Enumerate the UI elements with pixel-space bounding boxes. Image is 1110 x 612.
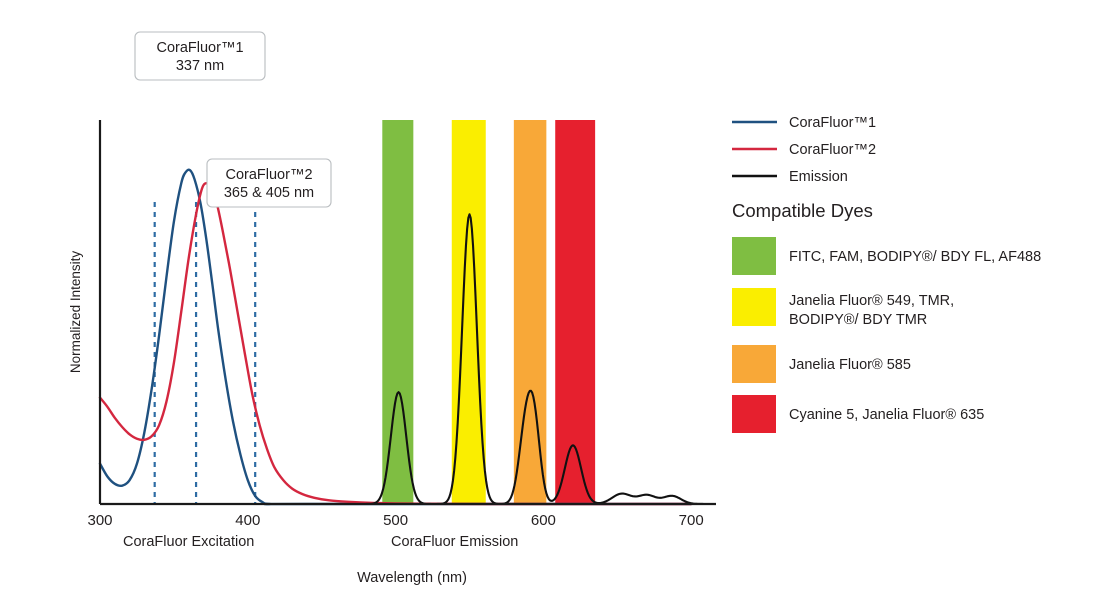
x-tick-label-400: 400 (235, 512, 260, 529)
y-axis-title: Normalized Intensity (68, 251, 83, 374)
dye-swatch-1 (732, 288, 776, 326)
spectra-figure: 300400500600700CoraFluor ExcitationCoraF… (0, 0, 1110, 612)
dye-label-3-line1: Cyanine 5, Janelia Fluor® 635 (789, 407, 984, 423)
legend-label-0: CoraFluor™1 (789, 115, 876, 131)
orange-band (514, 120, 547, 504)
green-band (382, 120, 413, 504)
corafluor2-callout: CoraFluor™2365 & 405 nm (207, 159, 331, 207)
corafluor2-callout-line1: CoraFluor™2 (225, 167, 312, 183)
dye-label-2-line1: Janelia Fluor® 585 (789, 357, 911, 373)
dye-swatch-2 (732, 345, 776, 383)
x-axis-title: Wavelength (nm) (357, 570, 467, 586)
x-tick-label-500: 500 (383, 512, 408, 529)
corafluor1-callout-line2: 337 nm (176, 58, 224, 74)
dye-label-1-line1: Janelia Fluor® 549, TMR, (789, 293, 954, 309)
axis-region-label-excitation: CoraFluor Excitation (123, 534, 254, 550)
corafluor2-callout-line2: 365 & 405 nm (224, 185, 314, 201)
x-tick-label-600: 600 (531, 512, 556, 529)
dye-swatch-3 (732, 395, 776, 433)
axis-region-label-emission: CoraFluor Emission (391, 534, 518, 550)
x-tick-label-300: 300 (87, 512, 112, 529)
dye-label-1-line2: BODIPY®/ BDY TMR (789, 312, 927, 328)
x-tick-label-700: 700 (679, 512, 704, 529)
dye-swatch-0 (732, 237, 776, 275)
corafluor1-callout-line1: CoraFluor™1 (156, 40, 243, 56)
legend-label-1: CoraFluor™2 (789, 142, 876, 158)
dye-label-0-line1: FITC, FAM, BODIPY®/ BDY FL, AF488 (789, 249, 1041, 265)
corafluor1-callout: CoraFluor™1337 nm (135, 32, 265, 80)
compatible-dyes-heading: Compatible Dyes (732, 200, 873, 221)
legend-label-2: Emission (789, 169, 848, 185)
